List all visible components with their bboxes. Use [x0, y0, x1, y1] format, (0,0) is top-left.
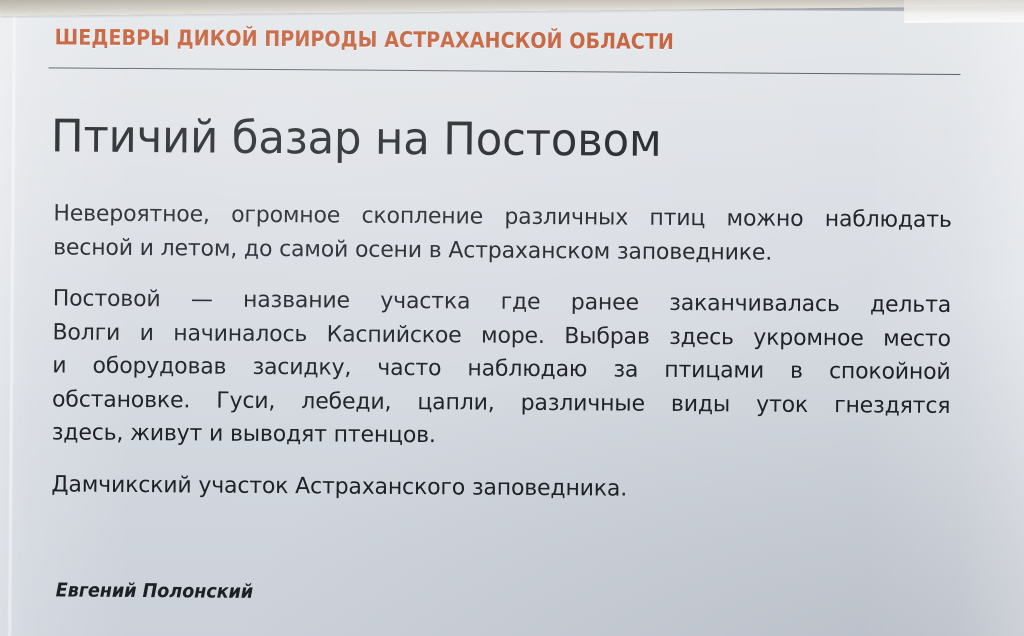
panel-content: ШЕДЕВРЫ ДИКОЙ ПРИРОДЫ АСТРАХАНСКОЙ ОБЛАС…: [0, 1, 1022, 636]
paragraph-line: здесь, живут и выводят птенцов.: [52, 416, 951, 456]
panel-top-edge-highlight: [904, 0, 1024, 23]
paragraph-line: весной и летом, до самой осени в Астраха…: [53, 231, 952, 271]
series-kicker: ШЕДЕВРЫ ДИКОЙ ПРИРОДЫ АСТРАХАНСКОЙ ОБЛАС…: [55, 25, 674, 55]
body-copy: Невероятное, огромное скопление различны…: [51, 197, 965, 508]
author-signature: Евгений Полонский: [56, 579, 254, 602]
paragraph-location: Дамчикский участок Астраханского заповед…: [51, 468, 950, 508]
page-title: Птичий базар на Постовом: [51, 112, 662, 167]
exhibit-panel-photo: ШЕДЕВРЫ ДИКОЙ ПРИРОДЫ АСТРАХАНСКОЙ ОБЛАС…: [0, 0, 1024, 636]
header-divider-rule: [49, 67, 961, 75]
paragraph-intro: Невероятное, огромное скопление различны…: [53, 197, 952, 271]
paragraph-description: Постовой — название участка где ранее за…: [52, 282, 952, 456]
paragraph-line: Дамчикский участок Астраханского заповед…: [51, 468, 950, 508]
